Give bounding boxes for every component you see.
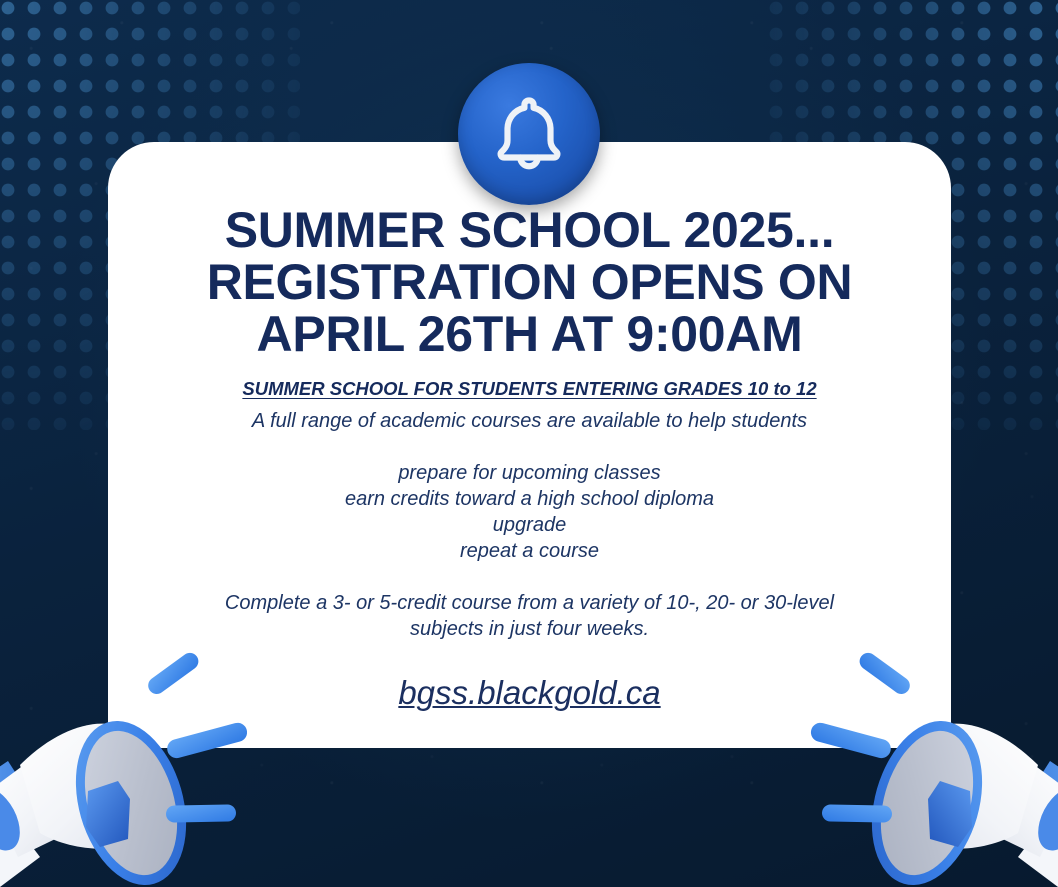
headline-line-3: APRIL 26TH AT 9:00AM: [128, 308, 931, 360]
page-title: SUMMER SCHOOL 2025... REGISTRATION OPENS…: [108, 142, 951, 360]
link-container: bgss.blackgold.ca: [108, 674, 951, 712]
benefit-item: earn credits toward a high school diplom…: [108, 486, 951, 512]
benefit-item: repeat a course: [108, 538, 951, 564]
benefit-item: prepare for upcoming classes: [108, 460, 951, 486]
closing-line-2: subjects in just four weeks.: [108, 616, 951, 642]
website-link[interactable]: bgss.blackgold.ca: [398, 674, 660, 711]
poster-content: SUMMER SCHOOL 2025... REGISTRATION OPENS…: [108, 142, 951, 748]
headline-line-2: REGISTRATION OPENS ON: [128, 256, 931, 308]
benefits-list: prepare for upcoming classes earn credit…: [108, 460, 951, 564]
closing-block: Complete a 3- or 5-credit course from a …: [108, 590, 951, 642]
closing-line-1: Complete a 3- or 5-credit course from a …: [108, 590, 951, 616]
subtitle: SUMMER SCHOOL FOR STUDENTS ENTERING GRAD…: [108, 378, 951, 400]
intro-text: A full range of academic courses are ava…: [108, 408, 951, 434]
poster-canvas: SUMMER SCHOOL 2025... REGISTRATION OPENS…: [0, 0, 1058, 887]
headline-line-1: SUMMER SCHOOL 2025...: [128, 204, 931, 256]
benefit-item: upgrade: [108, 512, 951, 538]
